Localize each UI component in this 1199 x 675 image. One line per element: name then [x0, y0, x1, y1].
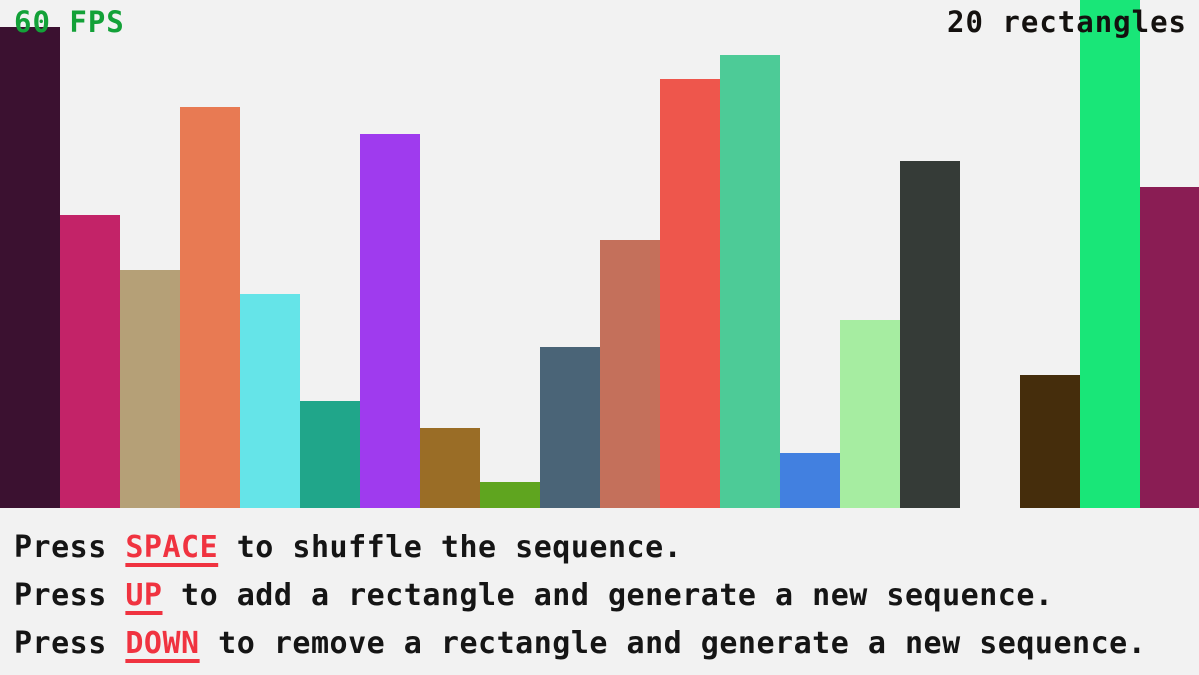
rectangle-bar: [720, 55, 780, 508]
rectangle-bar: [240, 294, 300, 508]
rectangle-bar: [840, 320, 900, 508]
rectangle-bar: [180, 107, 240, 508]
instruction-line-remove: Press DOWN to remove a rectangle and gen…: [14, 620, 1199, 668]
instruction-prefix: Press: [14, 626, 125, 661]
instruction-prefix: Press: [14, 578, 125, 613]
rectangle-bar: [420, 428, 480, 508]
key-space: SPACE: [125, 530, 218, 565]
instruction-suffix: to shuffle the sequence.: [218, 530, 682, 565]
key-up: UP: [125, 578, 162, 613]
rectangle-bar: [1140, 187, 1199, 508]
instruction-line-shuffle: Press SPACE to shuffle the sequence.: [14, 524, 1199, 572]
key-down: DOWN: [125, 626, 199, 661]
rectangle-bar: [660, 79, 720, 508]
instruction-suffix: to remove a rectangle and generate a new…: [200, 626, 1147, 661]
rectangle-canvas: [0, 0, 1199, 508]
instruction-suffix: to add a rectangle and generate a new se…: [163, 578, 1054, 613]
instruction-prefix: Press: [14, 530, 125, 565]
rectangle-bar: [900, 161, 960, 508]
rectangle-count-label: 20 rectangles: [947, 8, 1187, 37]
rectangle-bar: [120, 270, 180, 508]
fps-counter: 60 FPS: [14, 8, 125, 37]
rectangle-bar: [1080, 0, 1140, 508]
instruction-line-add: Press UP to add a rectangle and generate…: [14, 572, 1199, 620]
rectangle-bar: [300, 401, 360, 508]
rectangle-bar: [60, 215, 120, 508]
rectangle-bar: [540, 347, 600, 508]
app-root: 60 FPS 20 rectangles Press SPACE to shuf…: [0, 0, 1199, 675]
rectangle-bar: [360, 134, 420, 508]
rectangle-bar: [600, 240, 660, 508]
rectangle-bar: [1020, 375, 1080, 508]
rectangle-bar: [0, 27, 60, 508]
instructions-panel: Press SPACE to shuffle the sequence. Pre…: [0, 508, 1199, 675]
rectangle-bar: [780, 453, 840, 508]
rectangle-bar: [480, 482, 540, 508]
